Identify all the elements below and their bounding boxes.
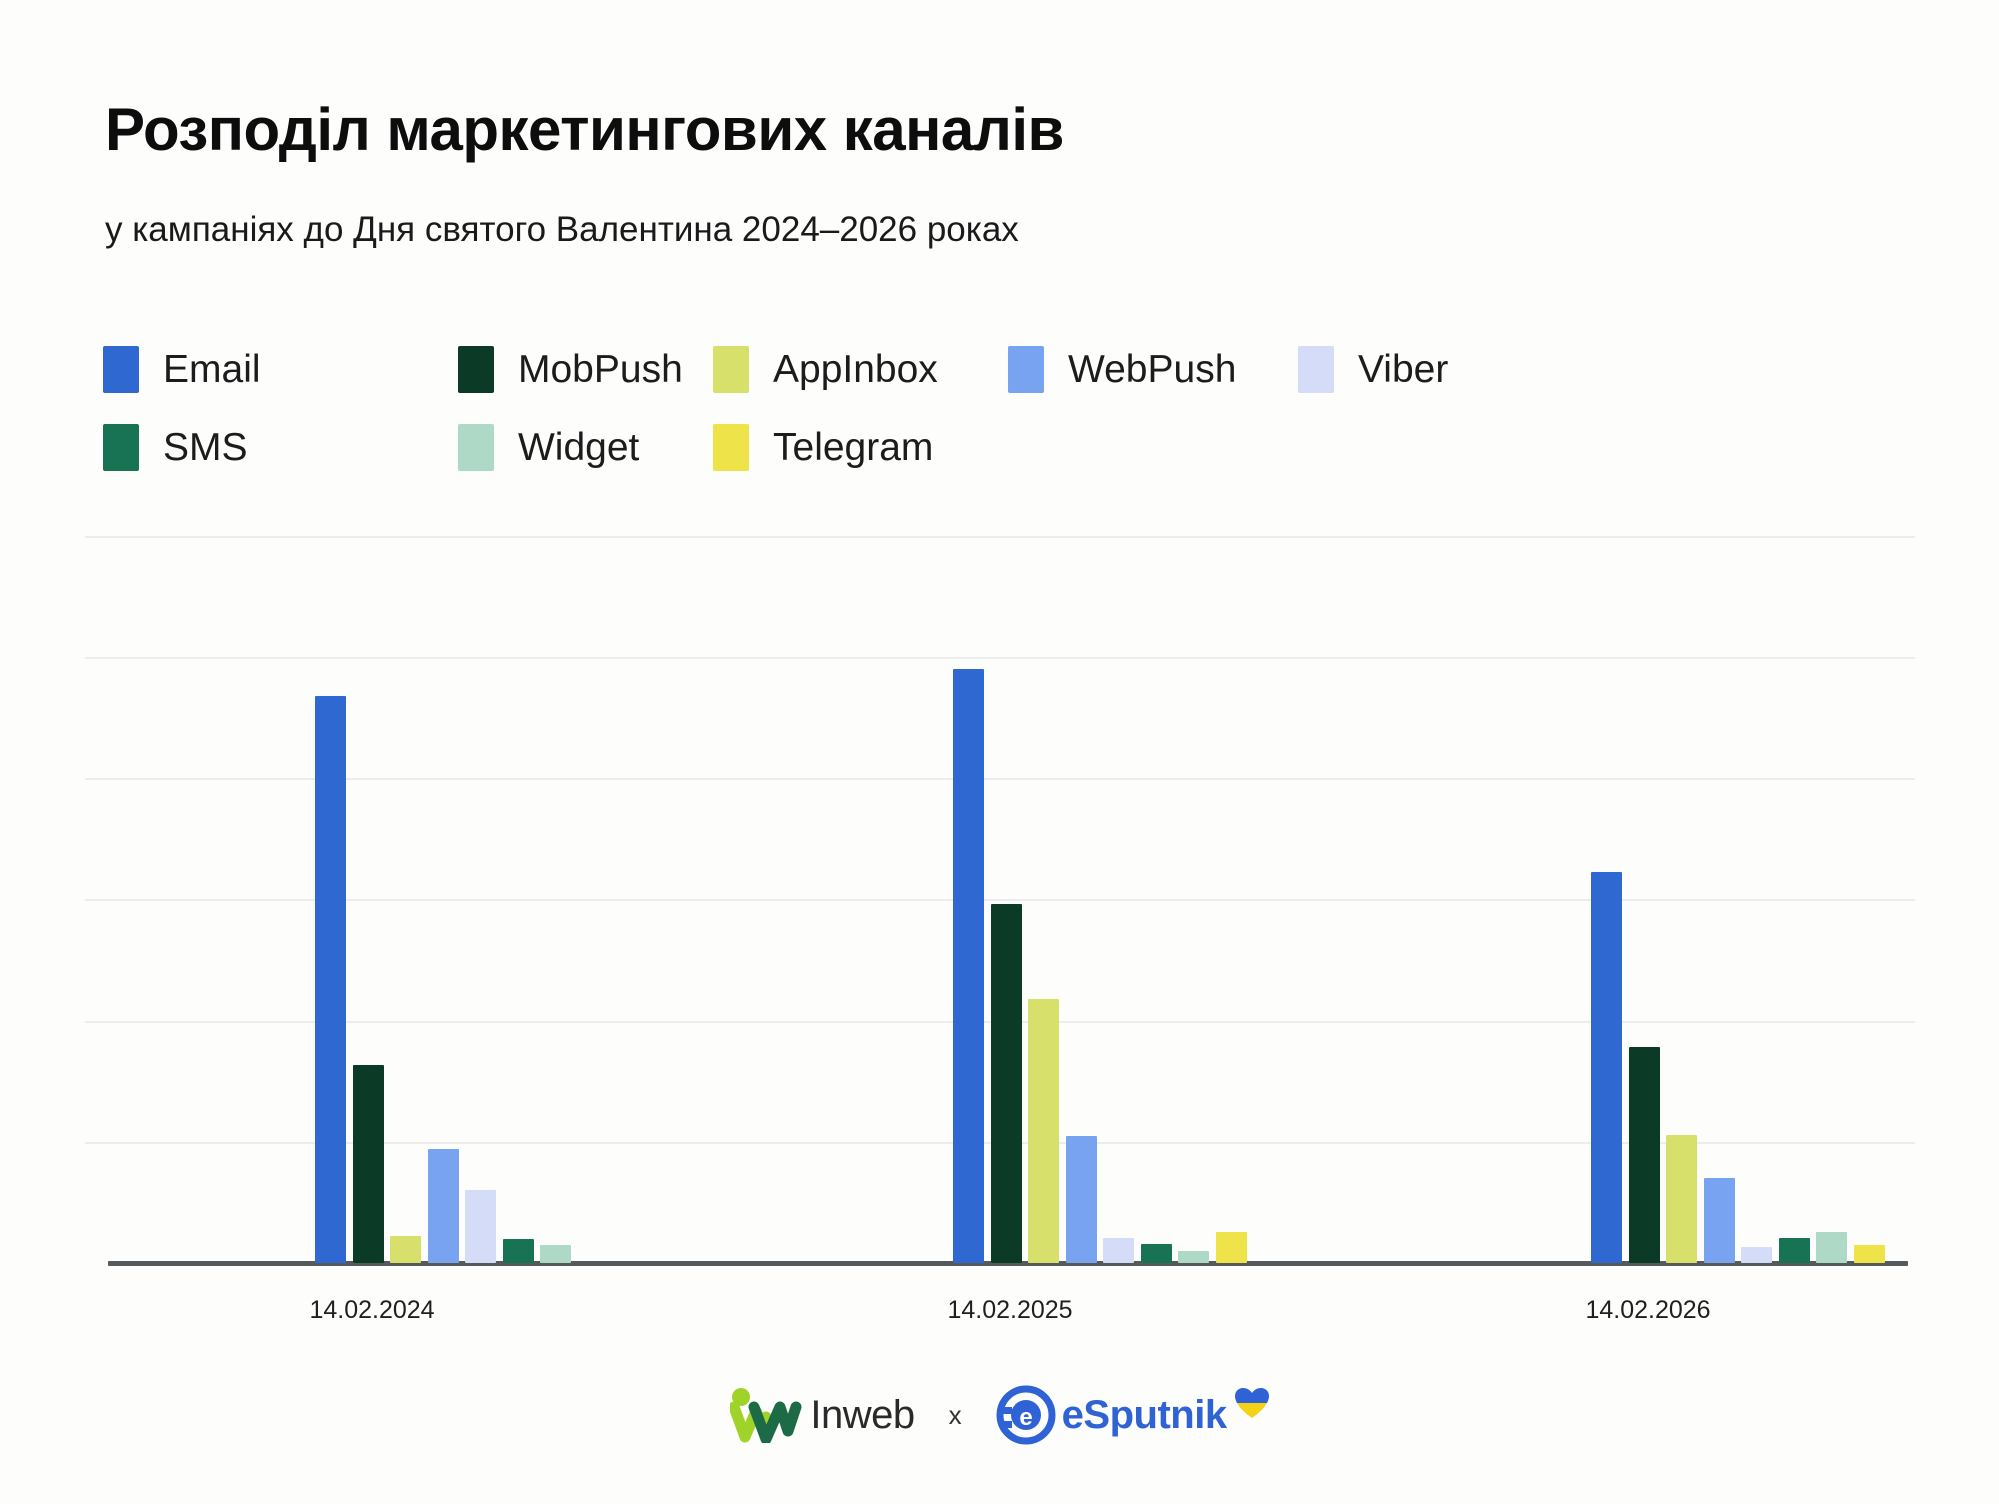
bar-mobpush-14.02.2026[interactable] <box>1629 1047 1660 1263</box>
bar-appinbox-14.02.2024[interactable] <box>390 1236 421 1263</box>
legend-label-webpush: WebPush <box>1068 350 1236 389</box>
bar-viber-14.02.2024[interactable] <box>465 1190 496 1263</box>
legend-swatch-mobpush-icon <box>458 346 494 393</box>
legend-row-2: SMSWidgetTelegram <box>103 408 1803 486</box>
gridline <box>85 657 1915 659</box>
legend-label-sms: SMS <box>163 428 248 467</box>
esputnik-brand-name: eSputnik <box>1062 1393 1227 1438</box>
inweb-logo-icon <box>730 1387 804 1443</box>
svg-text:e: e <box>1019 1404 1032 1431</box>
bar-appinbox-14.02.2026[interactable] <box>1666 1135 1697 1263</box>
chart-legend: EmailMobPushAppInboxWebPushViber SMSWidg… <box>103 330 1803 486</box>
legend-item-widget[interactable]: Widget <box>458 424 639 471</box>
legend-swatch-telegram-icon <box>713 424 749 471</box>
gridline <box>85 1021 1915 1023</box>
legend-item-viber[interactable]: Viber <box>1298 346 1448 393</box>
legend-label-telegram: Telegram <box>773 428 933 467</box>
legend-label-mobpush: MobPush <box>518 350 683 389</box>
bar-email-14.02.2026[interactable] <box>1591 872 1622 1263</box>
legend-swatch-viber-icon <box>1298 346 1334 393</box>
bar-sms-14.02.2026[interactable] <box>1779 1238 1810 1263</box>
bar-email-14.02.2024[interactable] <box>315 696 346 1263</box>
bar-viber-14.02.2025[interactable] <box>1103 1238 1134 1263</box>
legend-item-mobpush[interactable]: MobPush <box>458 346 683 393</box>
legend-item-webpush[interactable]: WebPush <box>1008 346 1236 393</box>
legend-item-appinbox[interactable]: AppInbox <box>713 346 938 393</box>
legend-item-email[interactable]: Email <box>103 346 261 393</box>
bar-viber-14.02.2026[interactable] <box>1741 1247 1772 1263</box>
legend-swatch-email-icon <box>103 346 139 393</box>
ukraine-heart-icon <box>1235 1388 1269 1419</box>
page-subtitle: у кампаніях до Дня святого Валентина 202… <box>105 210 1019 250</box>
bar-telegram-14.02.2025[interactable] <box>1216 1232 1247 1264</box>
x-axis-label-14.02.2026: 14.02.2026 <box>1538 1296 1758 1325</box>
bar-telegram-14.02.2026[interactable] <box>1854 1245 1885 1263</box>
bar-sms-14.02.2025[interactable] <box>1141 1244 1172 1263</box>
footer-brands: Inweb x e eSputnik <box>0 1385 1999 1445</box>
bar-sms-14.02.2024[interactable] <box>503 1239 534 1263</box>
bar-widget-14.02.2024[interactable] <box>540 1245 571 1263</box>
bar-widget-14.02.2026[interactable] <box>1816 1232 1847 1264</box>
gridline <box>85 536 1915 538</box>
legend-label-appinbox: AppInbox <box>773 350 938 389</box>
gridline <box>85 778 1915 780</box>
legend-label-widget: Widget <box>518 428 639 467</box>
esputnik-brand: e eSputnik <box>996 1385 1269 1445</box>
legend-swatch-webpush-icon <box>1008 346 1044 393</box>
legend-swatch-appinbox-icon <box>713 346 749 393</box>
legend-label-email: Email <box>163 350 261 389</box>
legend-row-1: EmailMobPushAppInboxWebPushViber <box>103 330 1803 408</box>
bar-widget-14.02.2025[interactable] <box>1178 1251 1209 1263</box>
inweb-brand: Inweb <box>730 1387 914 1443</box>
x-axis-label-14.02.2024: 14.02.2024 <box>262 1296 482 1325</box>
bar-webpush-14.02.2026[interactable] <box>1704 1178 1735 1263</box>
legend-item-telegram[interactable]: Telegram <box>713 424 933 471</box>
legend-item-sms[interactable]: SMS <box>103 424 248 471</box>
bar-webpush-14.02.2024[interactable] <box>428 1149 459 1263</box>
chart-page: Розподіл маркетингових каналів у кампані… <box>0 0 1999 1504</box>
bar-mobpush-14.02.2025[interactable] <box>991 904 1022 1263</box>
bar-webpush-14.02.2025[interactable] <box>1066 1136 1097 1263</box>
bar-appinbox-14.02.2025[interactable] <box>1028 999 1059 1263</box>
x-axis-label-14.02.2025: 14.02.2025 <box>900 1296 1120 1325</box>
legend-label-viber: Viber <box>1358 350 1448 389</box>
esputnik-logo-icon: e <box>996 1385 1056 1445</box>
legend-swatch-widget-icon <box>458 424 494 471</box>
x-axis-line <box>108 1261 1908 1266</box>
brand-separator: x <box>949 1400 962 1431</box>
page-title: Розподіл маркетингових каналів <box>105 95 1064 164</box>
gridline <box>85 899 1915 901</box>
bar-email-14.02.2025[interactable] <box>953 669 984 1263</box>
bar-mobpush-14.02.2024[interactable] <box>353 1065 384 1263</box>
inweb-brand-name: Inweb <box>810 1393 914 1438</box>
legend-swatch-sms-icon <box>103 424 139 471</box>
gridline <box>85 1142 1915 1144</box>
